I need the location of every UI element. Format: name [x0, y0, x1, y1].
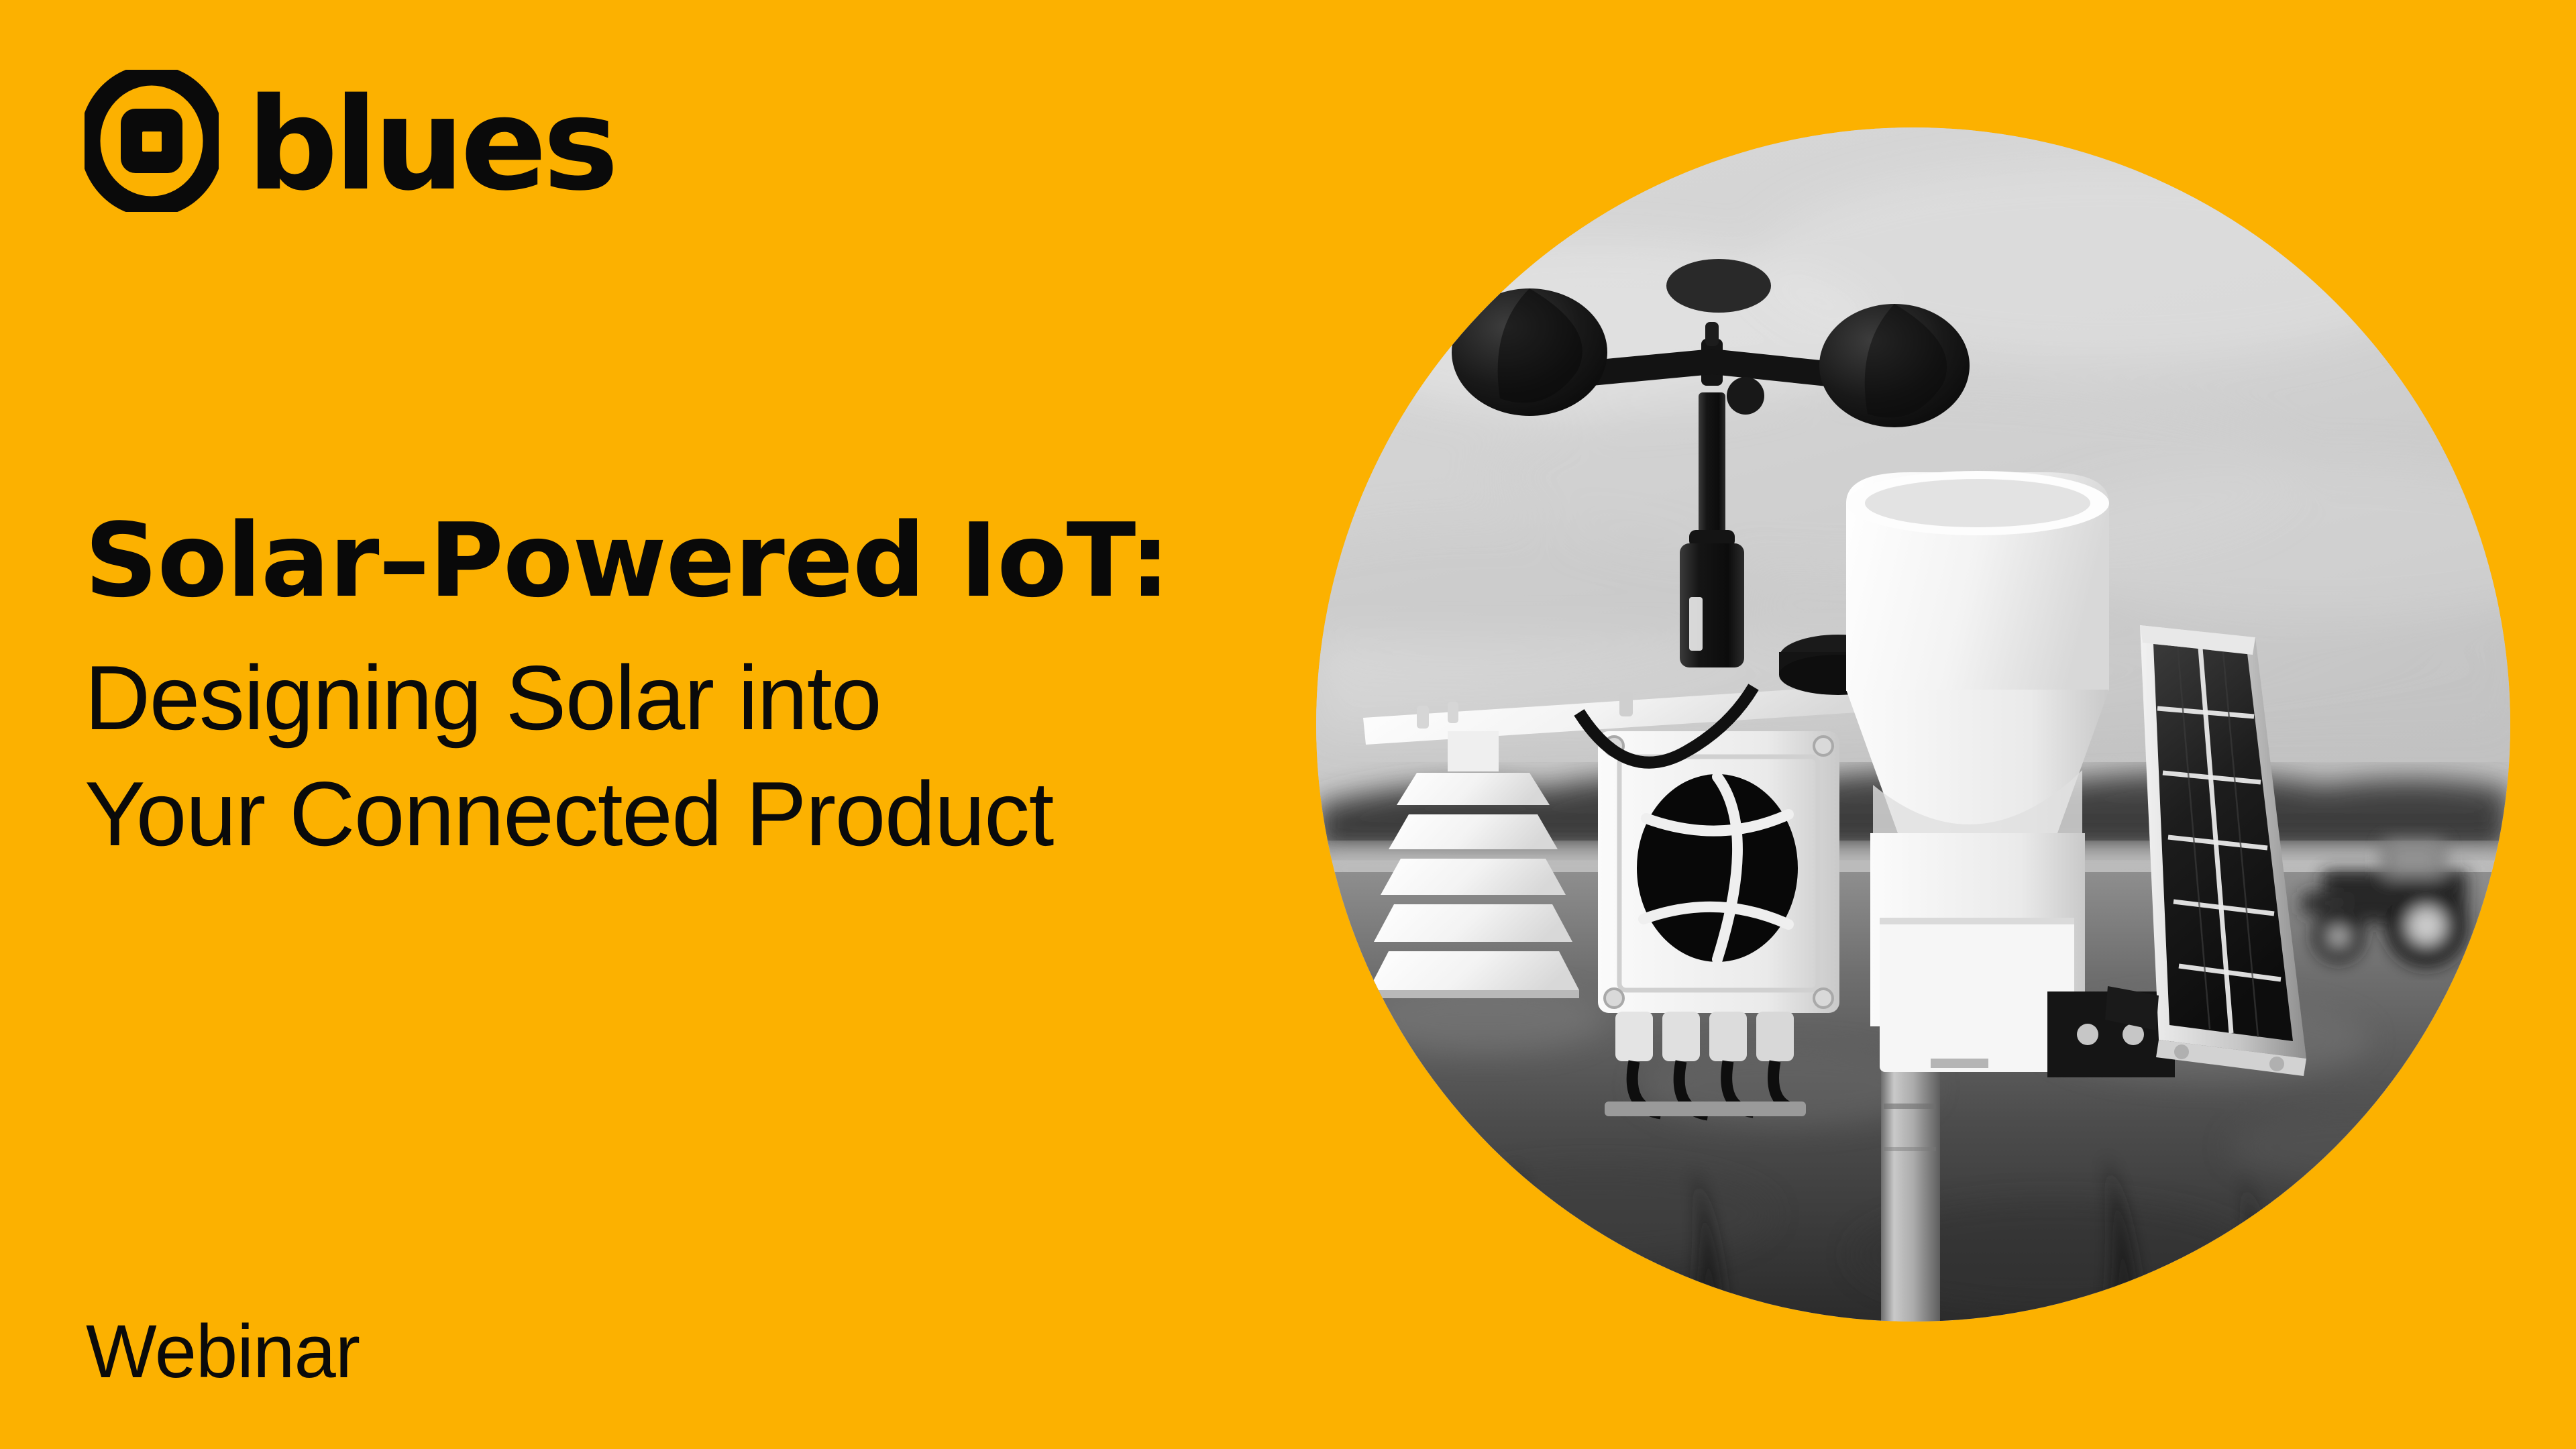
hero-text-block: Solar–Powered IoT: Designing Solar into …	[85, 510, 1292, 871]
page-subtitle-line-2: Your Connected Product	[85, 756, 1292, 872]
brand-logo-lockup[interactable]: blues	[85, 70, 614, 212]
page-subtitle: Designing Solar into Your Connected Prod…	[85, 640, 1292, 871]
brand-wordmark: blues	[247, 95, 614, 195]
blues-target-logo-icon	[85, 70, 219, 212]
hero-photo-circle	[1316, 127, 2510, 1322]
content-type-label: Webinar	[86, 1308, 360, 1395]
left-content-column: blues Solar–Powered IoT: Designing Solar…	[0, 0, 1315, 1449]
webinar-title-slide: blues Solar–Powered IoT: Designing Solar…	[0, 0, 2576, 1449]
fan-grille-icon	[1637, 774, 1798, 962]
page-subtitle-line-1: Designing Solar into	[85, 640, 1292, 756]
page-title: Solar–Powered IoT:	[85, 510, 1292, 612]
weather-station-photo	[1316, 127, 2510, 1322]
